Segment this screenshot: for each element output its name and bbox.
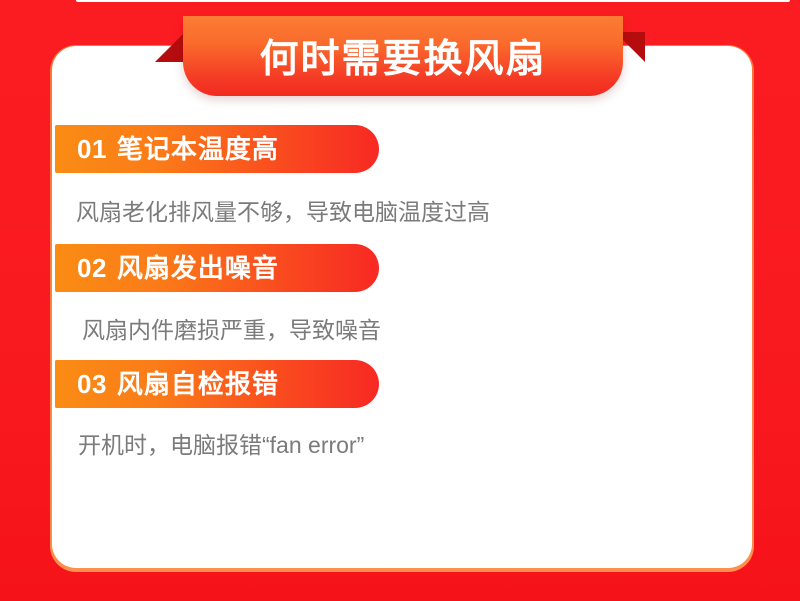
item-badge-01: 01 笔记本温度高 <box>55 125 379 173</box>
item-description: 开机时，电脑报错“fan error” <box>52 408 752 457</box>
page-title: 何时需要换风扇 <box>259 34 546 79</box>
item-description: 风扇内件磨损严重，导致噪音 <box>52 292 752 342</box>
ribbon-body: 何时需要换风扇 <box>183 16 623 96</box>
item-number: 02 <box>77 255 117 281</box>
ribbon-tail-left-icon <box>155 32 185 62</box>
list-item: 03 风扇自检报错 开机时，电脑报错“fan error” <box>52 360 752 457</box>
item-number: 01 <box>77 136 117 162</box>
item-description: 风扇老化排风量不够，导致电脑温度过高 <box>52 173 752 224</box>
title-ribbon: 何时需要换风扇 <box>155 16 645 100</box>
promo-page: 何时需要换风扇 01 笔记本温度高 风扇老化排风量不够，导致电脑温度过高 02 … <box>0 0 800 601</box>
item-number: 03 <box>77 371 117 397</box>
item-badge-03: 03 风扇自检报错 <box>55 360 379 408</box>
item-title: 风扇发出噪音 <box>117 255 279 281</box>
item-title: 笔记本温度高 <box>117 136 279 162</box>
list-item: 01 笔记本温度高 风扇老化排风量不够，导致电脑温度过高 <box>52 125 752 224</box>
item-title: 风扇自检报错 <box>117 371 279 397</box>
item-badge-02: 02 风扇发出噪音 <box>55 244 379 292</box>
reason-list: 01 笔记本温度高 风扇老化排风量不够，导致电脑温度过高 02 风扇发出噪音 风… <box>52 125 752 457</box>
top-card-sliver <box>76 0 790 2</box>
list-item: 02 风扇发出噪音 风扇内件磨损严重，导致噪音 <box>52 244 752 342</box>
